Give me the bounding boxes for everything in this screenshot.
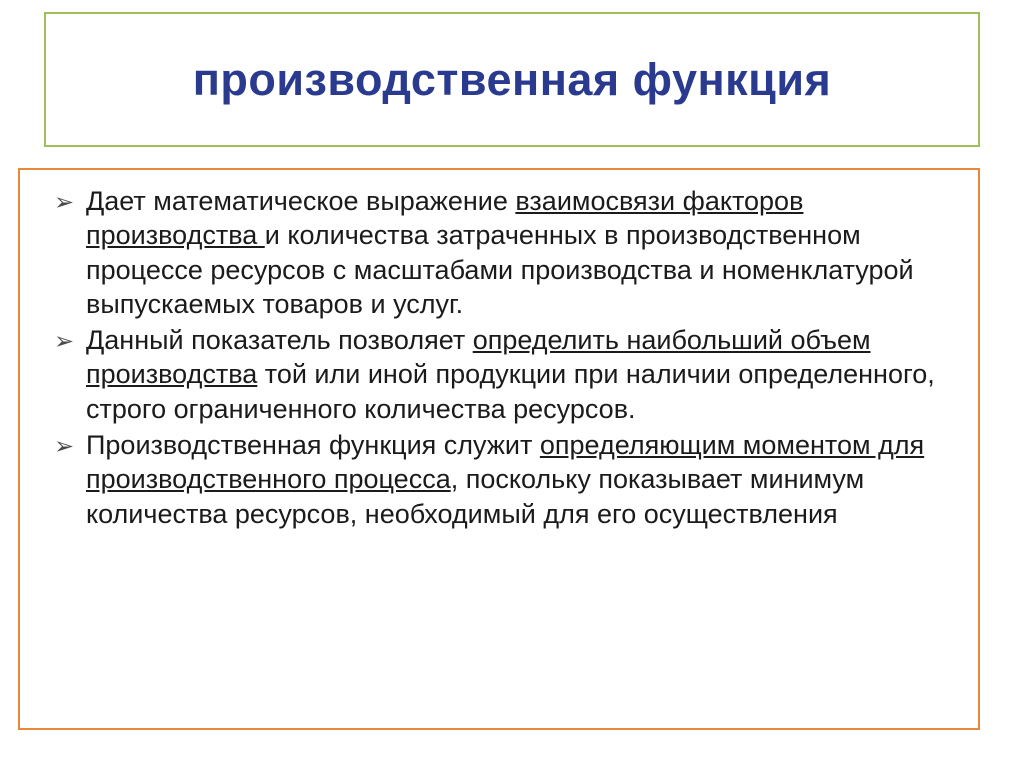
list-item: ➢Данный показатель позволяет определить … (38, 323, 958, 426)
list-item: ➢Производственная функция служит определ… (38, 428, 958, 531)
title-box: производственная функция (44, 12, 980, 147)
arrow-bullet-icon: ➢ (54, 326, 74, 357)
list-item: ➢Дает математическое выражение взаимосвя… (38, 184, 958, 321)
slide: производственная функция ➢Дает математич… (0, 0, 1024, 767)
list-item-text: Данный показатель позволяет определить н… (86, 325, 935, 424)
arrow-bullet-icon: ➢ (54, 187, 74, 218)
plain-text: Производственная функция служит (86, 430, 540, 460)
list-item-text: Производственная функция служит определя… (86, 430, 924, 529)
list-item-text: Дает математическое выражение взаимосвяз… (86, 186, 914, 319)
page-title: производственная функция (193, 55, 832, 105)
bullet-list: ➢Дает математическое выражение взаимосвя… (38, 184, 958, 531)
plain-text: Дает математическое выражение (86, 186, 515, 216)
content-box: ➢Дает математическое выражение взаимосвя… (18, 168, 980, 730)
plain-text: Данный показатель позволяет (86, 325, 473, 355)
arrow-bullet-icon: ➢ (54, 431, 74, 462)
